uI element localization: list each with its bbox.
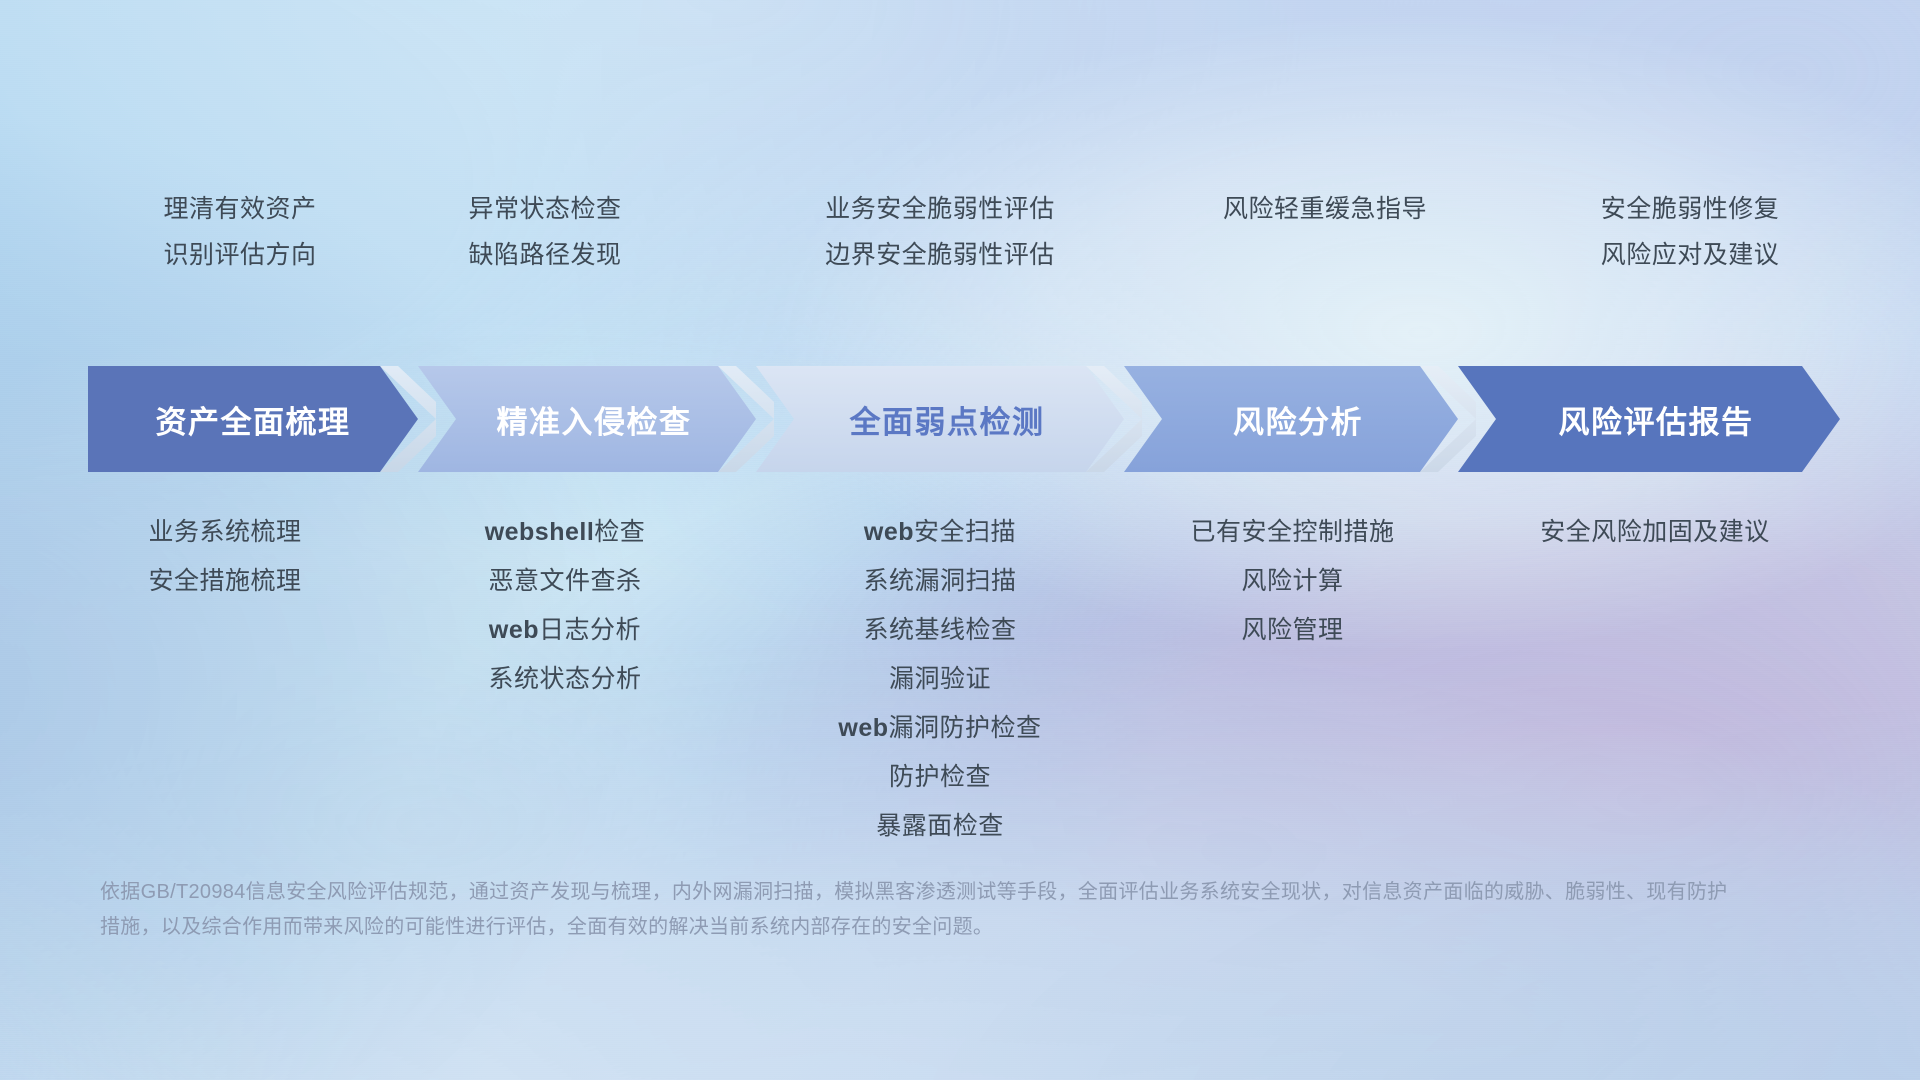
bottom-label-item: 系统漏洞扫描 (755, 557, 1125, 606)
top-label-item: 边界安全脆弱性评估 (740, 232, 1140, 278)
bottom-label-item: 已有安全控制措施 (1125, 508, 1460, 557)
stage-chevron-band: 资产全面梳理 精准入侵检查 全面弱点检测 风险分析 风险评估报告 (0, 366, 1920, 472)
top-label-item: 安全脆弱性修复 (1500, 186, 1880, 232)
stage-chevron-label: 资产全面梳理 (156, 397, 351, 442)
stage-chevron-intrusion-check[interactable]: 精准入侵检查 (418, 366, 756, 472)
top-labels-risk-report: 安全脆弱性修复 风险应对及建议 (1500, 186, 1880, 278)
bottom-label-item: webshell检查 (415, 508, 715, 557)
footer-description: 依据GB/T20984信息安全风险评估规范，通过资产发现与梳理，内外网漏洞扫描，… (100, 875, 1740, 945)
bottom-labels-intrusion-check: webshell检查 恶意文件查杀 web日志分析 系统状态分析 (415, 508, 715, 704)
top-label-item: 风险应对及建议 (1500, 232, 1880, 278)
bottom-label-item: 安全风险加固及建议 (1460, 508, 1850, 557)
bottom-label-item: 业务系统梳理 (50, 508, 400, 557)
bottom-label-item: web安全扫描 (755, 508, 1125, 557)
bottom-labels-risk-report: 安全风险加固及建议 (1460, 508, 1850, 557)
bottom-label-item: web日志分析 (415, 606, 715, 655)
top-label-item: 异常状态检查 (395, 186, 695, 232)
top-label-item: 识别评估方向 (60, 232, 420, 278)
top-labels-intrusion-check: 异常状态检查 缺陷路径发现 (395, 186, 695, 278)
top-labels-weakness-detection: 业务安全脆弱性评估 边界安全脆弱性评估 (740, 186, 1140, 278)
stage-chevron-weakness-detection[interactable]: 全面弱点检测 (756, 366, 1124, 472)
bottom-label-item: 恶意文件查杀 (415, 557, 715, 606)
stage-chevron-label: 风险评估报告 (1559, 397, 1754, 442)
bottom-label-item: 安全措施梳理 (50, 557, 400, 606)
bottom-label-item: 风险计算 (1125, 557, 1460, 606)
bottom-label-item: 系统基线检查 (755, 606, 1125, 655)
bottom-label-item: 防护检查 (755, 753, 1125, 802)
bottom-labels-asset-inventory: 业务系统梳理 安全措施梳理 (50, 508, 400, 606)
top-label-item: 缺陷路径发现 (395, 232, 695, 278)
stage-chevron-asset-inventory[interactable]: 资产全面梳理 (88, 366, 418, 472)
process-diagram: 理清有效资产 识别评估方向 异常状态检查 缺陷路径发现 业务安全脆弱性评估 边界… (0, 0, 1920, 1080)
stage-chevron-risk-analysis[interactable]: 风险分析 (1124, 366, 1458, 472)
top-label-row: 理清有效资产 识别评估方向 异常状态检查 缺陷路径发现 业务安全脆弱性评估 边界… (0, 186, 1920, 296)
bottom-label-item: 风险管理 (1125, 606, 1460, 655)
top-labels-asset-inventory: 理清有效资产 识别评估方向 (60, 186, 420, 278)
top-label-item: 业务安全脆弱性评估 (740, 186, 1140, 232)
bottom-labels-weakness-detection: web安全扫描 系统漏洞扫描 系统基线检查 漏洞验证 web漏洞防护检查 防护检… (755, 508, 1125, 851)
top-labels-risk-analysis: 风险轻重缓急指导 (1135, 186, 1515, 232)
bottom-label-item: 漏洞验证 (755, 655, 1125, 704)
bottom-label-item: 系统状态分析 (415, 655, 715, 704)
stage-chevron-label: 全面弱点检测 (850, 397, 1045, 442)
bottom-label-item: 暴露面检查 (755, 802, 1125, 851)
stage-chevron-label: 精准入侵检查 (497, 397, 692, 442)
top-label-item: 理清有效资产 (60, 186, 420, 232)
stage-chevron-risk-report[interactable]: 风险评估报告 (1458, 366, 1840, 472)
bottom-label-item: web漏洞防护检查 (755, 704, 1125, 753)
stage-chevron-label: 风险分析 (1233, 397, 1363, 442)
bottom-labels-risk-analysis: 已有安全控制措施 风险计算 风险管理 (1125, 508, 1460, 655)
top-label-item: 风险轻重缓急指导 (1135, 186, 1515, 232)
